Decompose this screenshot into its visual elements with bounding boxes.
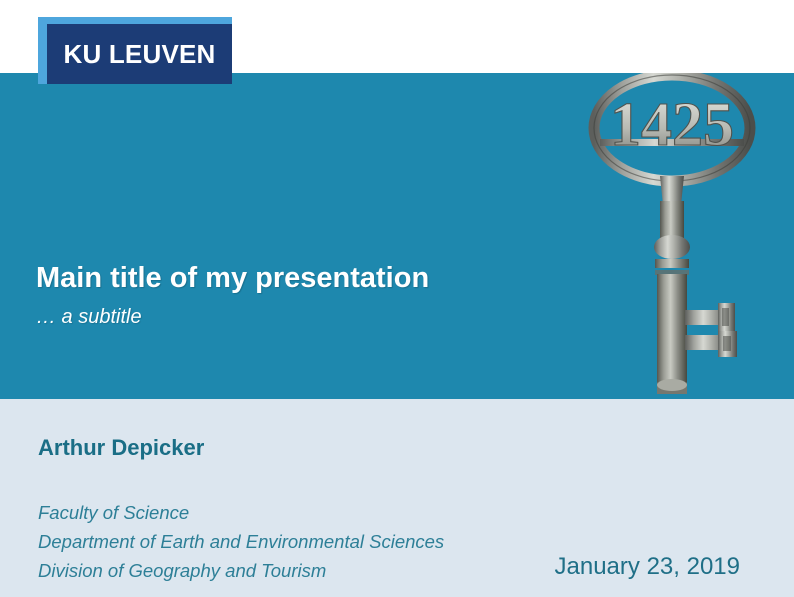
author-name: Arthur Depicker: [38, 435, 204, 461]
affiliation-line-division: Division of Geography and Tourism: [38, 556, 444, 585]
key-tip-highlight: [657, 379, 687, 391]
ku-leuven-logo: KU LEUVEN: [38, 17, 232, 84]
slide-title: Main title of my presentation: [36, 262, 429, 295]
key-neck: [660, 176, 684, 205]
svg-text:1425: 1425: [610, 91, 734, 159]
key-photograph: 1425: [560, 73, 794, 399]
affiliation-line-department: Department of Earth and Environmental Sc…: [38, 527, 444, 556]
affiliation-block: Faculty of Science Department of Earth a…: [38, 498, 444, 585]
presentation-title-slide: KU LEUVEN: [0, 0, 794, 597]
key-year-engraving: 1425: [610, 91, 734, 159]
presentation-date: January 23, 2019: [555, 553, 740, 581]
affiliation-line-faculty: Faculty of Science: [38, 498, 444, 527]
key-collar: [654, 235, 690, 259]
slide-subtitle: … a subtitle: [36, 306, 142, 329]
key-shaft: [657, 274, 687, 394]
logo-wordmark: KU LEUVEN: [47, 24, 232, 84]
key-bit: [685, 303, 737, 357]
key-illustration: 1425: [560, 73, 794, 399]
key-collar-band: [655, 259, 689, 268]
